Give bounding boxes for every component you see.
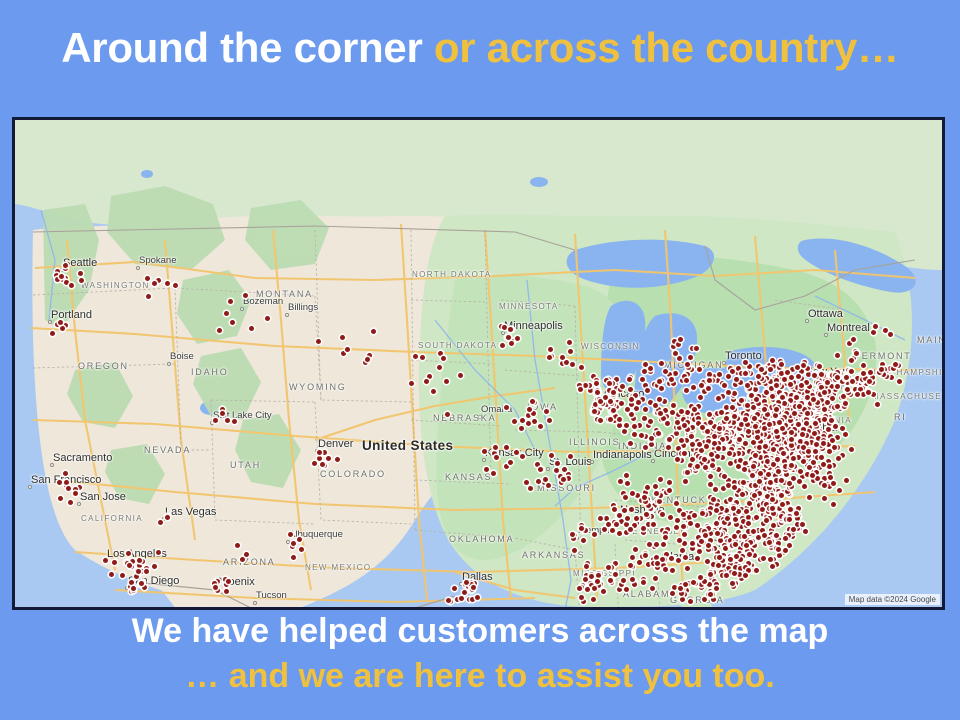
customer-dot	[811, 460, 816, 465]
customer-dot	[802, 484, 807, 489]
customer-dot	[828, 475, 833, 480]
customer-dot	[431, 389, 436, 394]
customer-dot	[747, 501, 752, 506]
customer-dot	[835, 353, 840, 358]
customer-dot	[679, 591, 684, 596]
customer-dot	[570, 362, 575, 367]
customer-dot	[708, 474, 713, 479]
customer-dot	[548, 347, 553, 352]
customer-dot	[835, 435, 840, 440]
customer-dot	[677, 356, 682, 361]
customer-dot	[768, 557, 773, 562]
customer-dot	[654, 542, 659, 547]
customer-dot	[875, 402, 880, 407]
customer-dot	[806, 372, 811, 377]
customer-dot	[543, 477, 548, 482]
customer-dot	[866, 390, 871, 395]
customer-dot	[754, 397, 759, 402]
customer-dot	[680, 548, 685, 553]
customer-dot	[777, 553, 782, 558]
customer-dot	[413, 354, 418, 359]
customer-dot	[424, 379, 429, 384]
customer-dot	[692, 513, 697, 518]
customer-dot	[832, 445, 837, 450]
customer-dot	[630, 555, 635, 560]
customer-dot	[844, 375, 849, 380]
customer-dot	[554, 468, 559, 473]
customer-dot	[717, 372, 722, 377]
customer-dot	[673, 371, 678, 376]
customer-dot	[700, 425, 705, 430]
customer-dot	[500, 343, 505, 348]
customer-dot	[669, 377, 674, 382]
customer-dot	[855, 376, 860, 381]
customer-dot	[683, 555, 688, 560]
customer-dot	[544, 409, 549, 414]
customer-dot	[683, 479, 688, 484]
customer-dot	[628, 387, 633, 392]
customer-dot	[528, 486, 533, 491]
customer-dot	[762, 533, 767, 538]
customer-dot	[755, 429, 760, 434]
customer-dot	[316, 339, 321, 344]
customer-dot	[297, 537, 302, 542]
customer-dot	[830, 396, 835, 401]
customer-dot	[747, 552, 752, 557]
customer-dot	[645, 388, 650, 393]
customer-dot	[226, 579, 231, 584]
customer-dot	[646, 423, 651, 428]
customer-dot	[780, 502, 785, 507]
customer-dot	[695, 556, 700, 561]
customer-dot	[673, 351, 678, 356]
customer-dot	[776, 547, 781, 552]
customer-dot	[647, 542, 652, 547]
customer-dot	[773, 413, 778, 418]
customer-dot	[770, 506, 775, 511]
customer-dot	[708, 482, 713, 487]
customer-dot	[555, 461, 560, 466]
customer-dot	[244, 552, 249, 557]
customer-dot	[752, 493, 757, 498]
customer-dot	[624, 423, 629, 428]
customer-dot	[768, 480, 773, 485]
customer-dot	[493, 445, 498, 450]
customer-dot	[777, 420, 782, 425]
customer-dot	[762, 407, 767, 412]
customer-dot	[785, 501, 790, 506]
customer-dot	[592, 586, 597, 591]
customer-dot	[690, 546, 695, 551]
customer-dot	[640, 377, 645, 382]
customer-dot	[787, 543, 792, 548]
customer-dot	[796, 422, 801, 427]
customer-dot	[578, 387, 583, 392]
customer-dot	[625, 481, 630, 486]
customer-dot	[341, 351, 346, 356]
customer-dot	[716, 396, 721, 401]
customer-dot	[322, 450, 327, 455]
customer-dot	[708, 531, 713, 536]
customer-dot	[667, 488, 672, 493]
customer-dot	[822, 417, 827, 422]
customer-dot	[660, 512, 665, 517]
customer-dot	[817, 364, 822, 369]
customer-dot	[235, 543, 240, 548]
customer-dot	[504, 445, 509, 450]
customer-dot	[515, 336, 520, 341]
customer-dot	[561, 477, 566, 482]
customer-dot	[880, 362, 885, 367]
customer-dot	[831, 502, 836, 507]
customer-dot	[502, 325, 507, 330]
customer-dot	[706, 386, 711, 391]
customer-dot	[799, 383, 804, 388]
customer-dot	[643, 553, 648, 558]
customer-dot	[173, 283, 178, 288]
customer-dot	[224, 311, 229, 316]
customer-dot	[606, 522, 611, 527]
customer-dot	[63, 471, 68, 476]
customer-dot	[747, 364, 752, 369]
customer-dot	[531, 411, 536, 416]
customer-dot	[643, 407, 648, 412]
customer-dot	[675, 518, 680, 523]
customer-dot	[851, 337, 856, 342]
customer-dot	[635, 493, 640, 498]
customer-dot	[743, 360, 748, 365]
customer-dot	[849, 447, 854, 452]
customer-dot	[619, 519, 624, 524]
customer-dot	[614, 377, 619, 382]
customer-dot	[757, 445, 762, 450]
customer-dot	[512, 419, 517, 424]
customer-dot	[674, 501, 679, 506]
customer-dot	[136, 569, 141, 574]
customer-dot	[737, 437, 742, 442]
customer-dot	[437, 365, 442, 370]
customer-dot	[655, 561, 660, 566]
customer-dot	[683, 582, 688, 587]
customer-dot	[649, 514, 654, 519]
customer-dot	[547, 418, 552, 423]
customer-dot	[225, 418, 230, 423]
customer-dot	[741, 480, 746, 485]
customer-dot	[732, 485, 737, 490]
customer-dot	[618, 479, 623, 484]
customer-dot	[320, 462, 325, 467]
customer-dot	[715, 454, 720, 459]
customer-dot	[702, 579, 707, 584]
customer-dot	[50, 331, 55, 336]
customer-dot	[688, 463, 693, 468]
customer-dot	[831, 481, 836, 486]
customer-dot	[73, 491, 78, 496]
customer-dot	[796, 374, 801, 379]
customer-dot	[675, 420, 680, 425]
customer-dot	[213, 585, 218, 590]
customer-dot	[475, 595, 480, 600]
customer-dot	[718, 538, 723, 543]
customer-dot	[682, 451, 687, 456]
customer-dot	[688, 521, 693, 526]
customer-dot	[797, 479, 802, 484]
customer-dot	[705, 559, 710, 564]
customer-dot	[584, 564, 589, 569]
customer-dot	[679, 438, 684, 443]
customer-dot	[707, 378, 712, 383]
customer-dot	[579, 365, 584, 370]
customer-dot	[754, 568, 759, 573]
customer-dot	[156, 278, 161, 283]
customer-dot	[730, 581, 735, 586]
customer-dot	[220, 411, 225, 416]
customer-dot	[707, 511, 712, 516]
customer-dot	[508, 460, 513, 465]
customer-dot	[758, 455, 763, 460]
customer-dot	[677, 538, 682, 543]
customer-dot	[775, 457, 780, 462]
customer-dot	[547, 355, 552, 360]
customer-dot	[224, 589, 229, 594]
customer-dot	[795, 516, 800, 521]
customer-dot	[889, 375, 894, 380]
customer-dot	[803, 529, 808, 534]
customer-dot	[536, 479, 541, 484]
customer-dot	[371, 329, 376, 334]
customer-dot	[684, 388, 689, 393]
customer-dot	[837, 488, 842, 493]
customer-dot	[602, 527, 607, 532]
customer-dot	[326, 456, 331, 461]
customer-dot	[801, 459, 806, 464]
customer-dot	[291, 541, 296, 546]
customer-dot	[628, 563, 633, 568]
customer-dot	[800, 522, 805, 527]
customer-dot	[459, 596, 464, 601]
customer-dot	[152, 281, 157, 286]
customer-dot	[670, 410, 675, 415]
customer-dot	[854, 351, 859, 356]
customer-dot	[79, 278, 84, 283]
customer-dot	[663, 408, 668, 413]
customer-dot	[697, 367, 702, 372]
customer-dot	[634, 516, 639, 521]
customer-dot	[783, 548, 788, 553]
customer-dot	[643, 490, 648, 495]
customer-dot	[822, 483, 827, 488]
customer-dot	[649, 442, 654, 447]
customer-dot	[716, 446, 721, 451]
customer-dot	[733, 517, 738, 522]
customer-dot	[779, 478, 784, 483]
customer-dot	[720, 455, 725, 460]
customer-dot	[771, 523, 776, 528]
customer-dot	[698, 395, 703, 400]
customer-dot	[57, 480, 62, 485]
customer-dot	[671, 403, 676, 408]
customer-dot	[643, 445, 648, 450]
customer-dot	[653, 576, 658, 581]
customer-dot	[702, 597, 707, 602]
customer-dot	[641, 580, 646, 585]
customer-dot	[614, 522, 619, 527]
customer-dot	[629, 397, 634, 402]
customer-dot	[737, 572, 742, 577]
customer-dot	[753, 424, 758, 429]
customer-dot	[739, 422, 744, 427]
customer-dot	[721, 486, 726, 491]
customer-dot	[826, 427, 831, 432]
customer-dot	[812, 431, 817, 436]
customer-dot	[126, 551, 131, 556]
customer-dot	[746, 521, 751, 526]
customer-dot	[625, 516, 630, 521]
customer-dot	[787, 481, 792, 486]
customer-dot	[617, 587, 622, 592]
customer-dot	[666, 445, 671, 450]
customer-dot	[482, 449, 487, 454]
customer-dot	[672, 585, 677, 590]
customer-dot	[726, 483, 731, 488]
customer-dot	[724, 573, 729, 578]
customer-dot	[628, 441, 633, 446]
page-title: Around the corner or across the country…	[0, 26, 960, 70]
customer-dot	[667, 480, 672, 485]
customer-dot	[670, 591, 675, 596]
slide: Around the corner or across the country…	[0, 0, 960, 720]
customer-dot	[608, 417, 613, 422]
customer-dot	[484, 467, 489, 472]
customer-dot	[705, 429, 710, 434]
customer-dot	[753, 453, 758, 458]
customer-dot	[458, 373, 463, 378]
customer-dot	[494, 455, 499, 460]
customer-dot	[758, 471, 763, 476]
customer-dot	[757, 479, 762, 484]
customer-dot	[760, 507, 765, 512]
customer-dot	[682, 541, 687, 546]
customer-dot	[685, 566, 690, 571]
customer-dot	[598, 516, 603, 521]
customer-dot	[738, 380, 743, 385]
customer-dot	[636, 400, 641, 405]
customer-dot	[592, 532, 597, 537]
customer-dot	[607, 381, 612, 386]
customer-dot	[822, 407, 827, 412]
customer-dot	[594, 381, 599, 386]
customer-dot	[593, 402, 598, 407]
customer-dot	[713, 487, 718, 492]
customer-dot	[789, 375, 794, 380]
customer-dot	[774, 562, 779, 567]
customer-dot	[761, 556, 766, 561]
customer-dot	[690, 457, 695, 462]
customer-dot	[604, 516, 609, 521]
customer-dot	[663, 535, 668, 540]
customer-dot	[643, 362, 648, 367]
customer-dot	[833, 424, 838, 429]
customer-dot	[217, 328, 222, 333]
customer-dot	[520, 418, 525, 423]
customer-dot	[736, 366, 741, 371]
customer-dot	[770, 564, 775, 569]
customer-dot	[681, 443, 686, 448]
customer-dot	[438, 351, 443, 356]
customer-dot	[676, 342, 681, 347]
customer-dot	[805, 411, 810, 416]
customer-dot	[621, 578, 626, 583]
customer-dot	[265, 316, 270, 321]
customer-dot	[893, 362, 898, 367]
customer-dot	[708, 538, 713, 543]
customer-dot	[644, 512, 649, 517]
customer-dot	[504, 464, 509, 469]
customer-dot	[595, 579, 600, 584]
customer-dot	[794, 511, 799, 516]
customer-dot	[816, 436, 821, 441]
customer-dot	[827, 449, 832, 454]
customer-dot	[730, 369, 735, 374]
customer-dot	[120, 573, 125, 578]
customer-dot	[771, 511, 776, 516]
customer-dot	[738, 458, 743, 463]
customer-dot	[723, 546, 728, 551]
customer-dot	[695, 464, 700, 469]
customer-dot	[888, 332, 893, 337]
customer-dot	[606, 565, 611, 570]
customer-dot	[743, 441, 748, 446]
customer-dot	[843, 432, 848, 437]
customer-dot	[821, 441, 826, 446]
customer-dot	[734, 377, 739, 382]
customer-dot	[345, 347, 350, 352]
customer-dot	[596, 573, 601, 578]
footer-line-1: We have helped customers across the map	[0, 612, 960, 651]
customer-dot	[632, 582, 637, 587]
customer-dot	[717, 426, 722, 431]
customer-dot	[690, 425, 695, 430]
customer-dot	[821, 462, 826, 467]
customer-dot	[145, 276, 150, 281]
customer-dot	[764, 390, 769, 395]
customer-dot	[598, 399, 603, 404]
customer-dot	[736, 464, 741, 469]
customer-dot	[653, 484, 658, 489]
customer-dot	[588, 388, 593, 393]
customer-dot	[427, 374, 432, 379]
customer-dot	[165, 515, 170, 520]
customer-dot	[826, 459, 831, 464]
customer-dot	[634, 406, 639, 411]
customer-dot	[471, 585, 476, 590]
customer-dot	[770, 358, 775, 363]
map-attribution: Map data ©2024 Google	[845, 594, 940, 605]
customer-dot	[699, 383, 704, 388]
customer-dot	[714, 586, 719, 591]
customer-dot	[873, 324, 878, 329]
customer-dot	[624, 522, 629, 527]
customer-dot	[658, 477, 663, 482]
customer-dot	[601, 589, 606, 594]
customer-dot	[577, 586, 582, 591]
customer-dot	[103, 558, 108, 563]
customer-dot	[243, 293, 248, 298]
customer-dot	[60, 326, 65, 331]
customer-dot	[716, 563, 721, 568]
customer-map[interactable]: United States SeattleSpokanePortlandBois…	[12, 117, 945, 610]
customer-dot	[742, 534, 747, 539]
